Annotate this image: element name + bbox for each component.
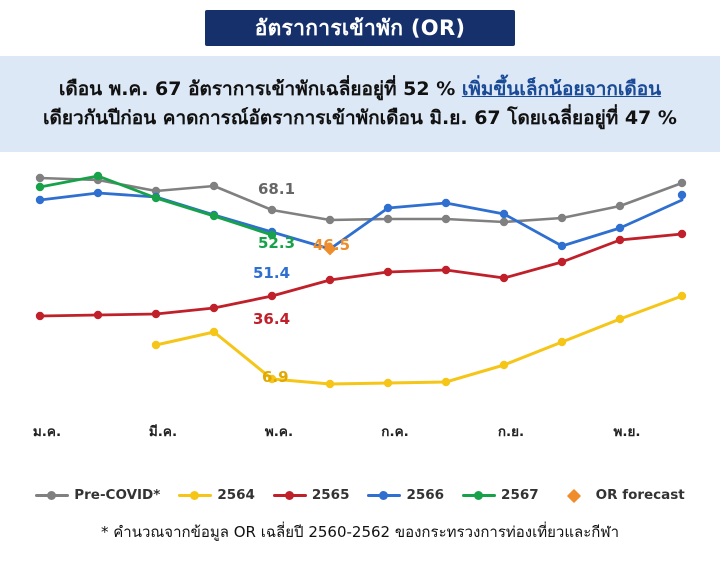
series-2564 [152,292,686,388]
legend-marker-2567-icon [462,489,496,501]
legend-label-2565: 2565 [312,487,350,503]
legend-marker-pre-covid-icon [35,489,69,501]
series-pre-covid [36,174,686,226]
summary-band: เดือน พ.ค. 67 อัตราการเข้าพักเฉลี่ยอยู่ท… [0,56,720,152]
legend-marker-2564-icon [178,489,212,501]
x-tick-3: ก.ค. [381,420,408,442]
legend-item-2564[interactable]: 2564 [178,487,255,503]
annotation-2564: 6.9 [262,368,289,386]
legend-item-2565[interactable]: 2565 [273,487,350,503]
annotation-or-forecast: 46.5 [313,236,350,254]
chart-area: 68.1 52.3 51.4 46.5 36.4 6.9 ม.ค. มี.ค. … [0,152,720,482]
summary-line-1-plain: เดือน พ.ค. 67 อัตราการเข้าพักเฉลี่ยอยู่ท… [59,78,462,100]
series-2565 [36,230,686,320]
chart-legend: Pre-COVID* 2564 2565 2566 2567 [0,478,720,512]
summary-line-2: เดียวกันปีก่อน คาดการณ์อัตราการเข้าพักเด… [43,104,677,133]
legend-label-or-forecast: OR forecast [596,487,685,503]
legend-label-2567: 2567 [501,487,539,503]
legend-item-pre-covid[interactable]: Pre-COVID* [35,487,160,503]
summary-line-1-highlight: เพิ่มขึ้นเล็กน้อยจากเดือน [462,78,661,100]
legend-item-2566[interactable]: 2566 [367,487,444,503]
legend-item-or-forecast[interactable]: OR forecast [557,487,685,503]
legend-marker-or-forecast-icon [557,489,591,501]
x-tick-2: พ.ค. [265,420,293,442]
x-tick-0: ม.ค. [33,420,61,442]
legend-label-2566: 2566 [406,487,444,503]
annotation-2567: 52.3 [258,234,295,252]
annotation-pre-covid: 68.1 [258,180,295,198]
legend-marker-2565-icon [273,489,307,501]
chart-footnote: * คำนวณจากข้อมูล OR เฉลี่ยปี 2560-2562 ข… [0,520,720,544]
series-2566 [36,189,686,253]
x-axis: ม.ค. มี.ค. พ.ค. ก.ค. ก.ย. พ.ย. [0,420,720,442]
x-tick-1: มี.ค. [149,420,177,442]
legend-marker-2566-icon [367,489,401,501]
legend-item-2567[interactable]: 2567 [462,487,539,503]
chart-page: อัตราการเข้าพัก (OR) เดือน พ.ค. 67 อัตรา… [0,0,720,580]
x-tick-5: พ.ย. [613,420,640,442]
annotation-2565: 36.4 [253,310,290,328]
series-2567 [36,172,276,239]
legend-label-pre-covid: Pre-COVID* [74,487,160,503]
annotation-2566: 51.4 [253,264,290,282]
x-tick-4: ก.ย. [498,420,524,442]
legend-label-2564: 2564 [217,487,255,503]
chart-title-bar: อัตราการเข้าพัก (OR) [205,10,515,46]
summary-line-1: เดือน พ.ค. 67 อัตราการเข้าพักเฉลี่ยอยู่ท… [59,75,661,104]
page-title: อัตราการเข้าพัก (OR) [255,12,466,45]
